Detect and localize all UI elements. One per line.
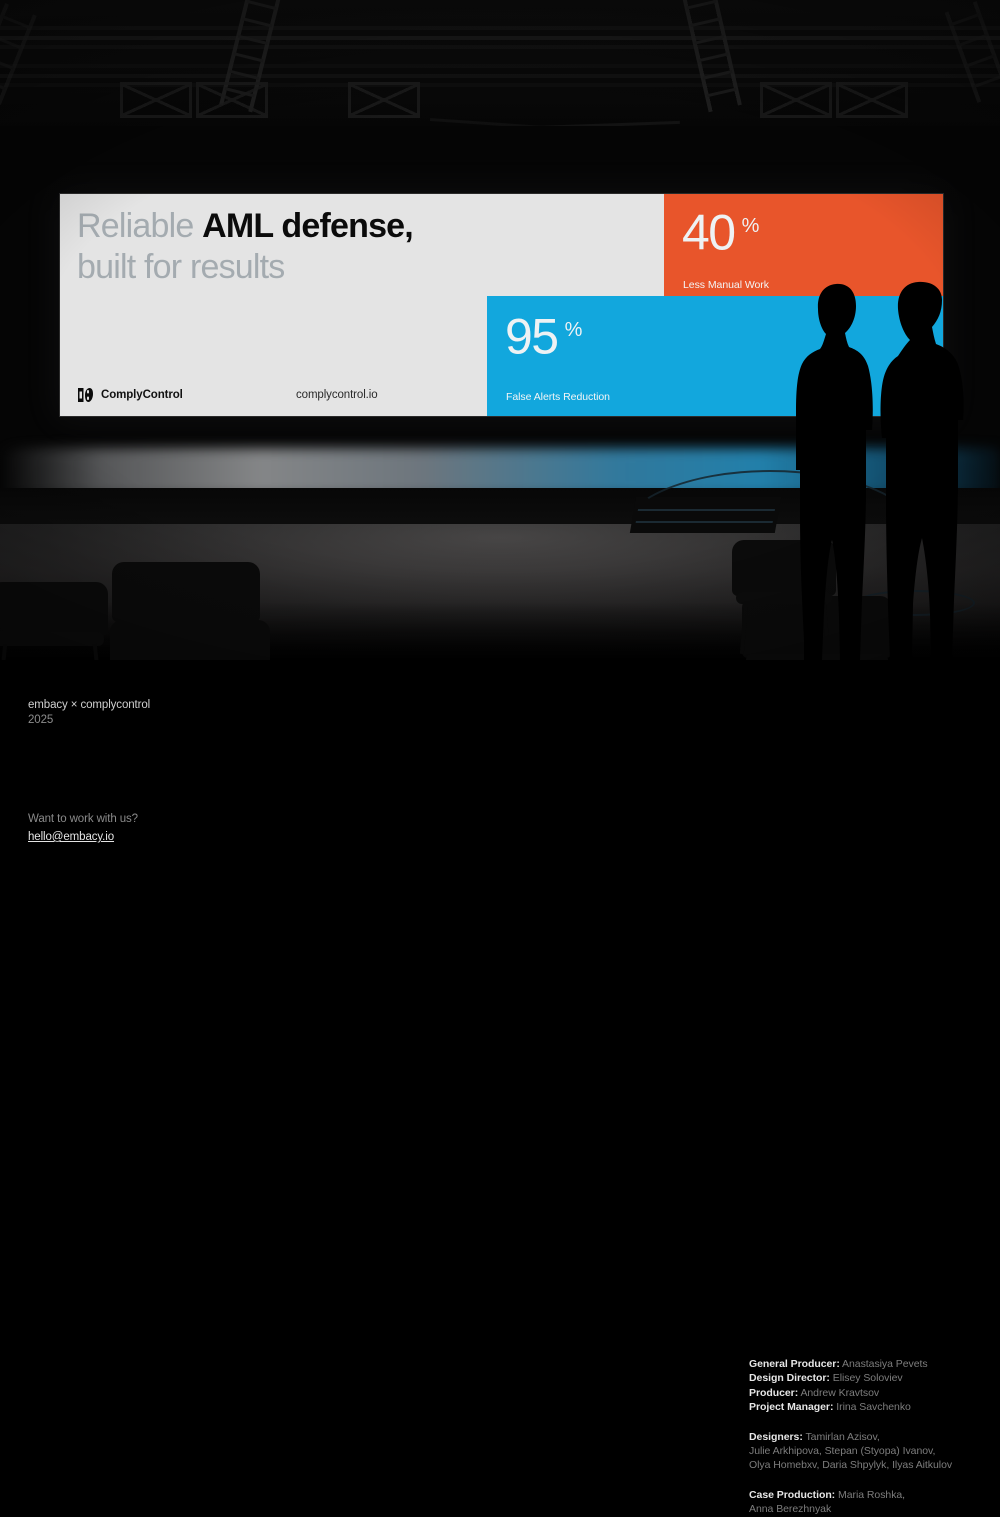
footer-project-block: embacy × complycontrol 2025 bbox=[28, 698, 150, 727]
credit-role: General Producer: bbox=[749, 1358, 840, 1370]
credit-row: Designers: Tamirlan Azisov, bbox=[749, 1430, 979, 1444]
hero-photo-scene: Reliable AML defense, built for results … bbox=[0, 0, 1000, 660]
footer-project-name: embacy × complycontrol bbox=[28, 698, 150, 713]
credit-names: Tamirlan Azisov, bbox=[803, 1431, 880, 1443]
credit-names: Irina Savchenko bbox=[833, 1401, 910, 1413]
credit-names: Anna Berezhnyak bbox=[749, 1503, 831, 1515]
credit-names: Olya Homebxv, Daria Shpylyk, Ilyas Aitku… bbox=[749, 1459, 952, 1471]
footer-email-link[interactable]: hello@embacy.io bbox=[28, 831, 114, 843]
credit-names: Julie Arkhipova, Stepan (Styopa) Ivanov, bbox=[749, 1445, 935, 1457]
footer-cta-question: Want to work with us? bbox=[28, 812, 138, 827]
credit-row: Olya Homebxv, Daria Shpylyk, Ilyas Aitku… bbox=[749, 1458, 979, 1472]
page-footer: embacy × complycontrol 2025 Want to work… bbox=[0, 660, 1000, 873]
credit-names: Andrew Kravtsov bbox=[798, 1387, 879, 1399]
credit-row: General Producer: Anastasiya Pevets bbox=[749, 1357, 979, 1371]
credit-row: Project Manager: Irina Savchenko bbox=[749, 1400, 979, 1414]
credit-role: Project Manager: bbox=[749, 1401, 833, 1413]
credit-names: Maria Roshka, bbox=[835, 1489, 905, 1501]
footer-year: 2025 bbox=[28, 713, 150, 728]
credit-role: Case Production: bbox=[749, 1489, 835, 1501]
credit-row: Julie Arkhipova, Stepan (Styopa) Ivanov, bbox=[749, 1444, 979, 1458]
credit-row: Case Production: Maria Roshka, bbox=[749, 1488, 979, 1502]
credits-block: General Producer: Anastasiya Pevets Desi… bbox=[749, 1357, 979, 1517]
credit-role: Design Director: bbox=[749, 1372, 830, 1384]
credit-names: Elisey Soloviev bbox=[830, 1372, 903, 1384]
credits-group-case-production: Case Production: Maria Roshka, Anna Bere… bbox=[749, 1488, 979, 1517]
credit-row: Anna Berezhnyak bbox=[749, 1502, 979, 1516]
scene-vignette bbox=[0, 0, 1000, 660]
credit-names: Anastasiya Pevets bbox=[840, 1358, 928, 1370]
credit-role: Producer: bbox=[749, 1387, 798, 1399]
credit-role: Designers: bbox=[749, 1431, 803, 1443]
credit-row: Design Director: Elisey Soloviev bbox=[749, 1371, 979, 1385]
credits-group-production: General Producer: Anastasiya Pevets Desi… bbox=[749, 1357, 979, 1415]
credits-group-designers: Designers: Tamirlan Azisov, Julie Arkhip… bbox=[749, 1430, 979, 1473]
footer-contact-block: Want to work with us? hello@embacy.io bbox=[28, 812, 138, 845]
credit-row: Producer: Andrew Kravtsov bbox=[749, 1386, 979, 1400]
